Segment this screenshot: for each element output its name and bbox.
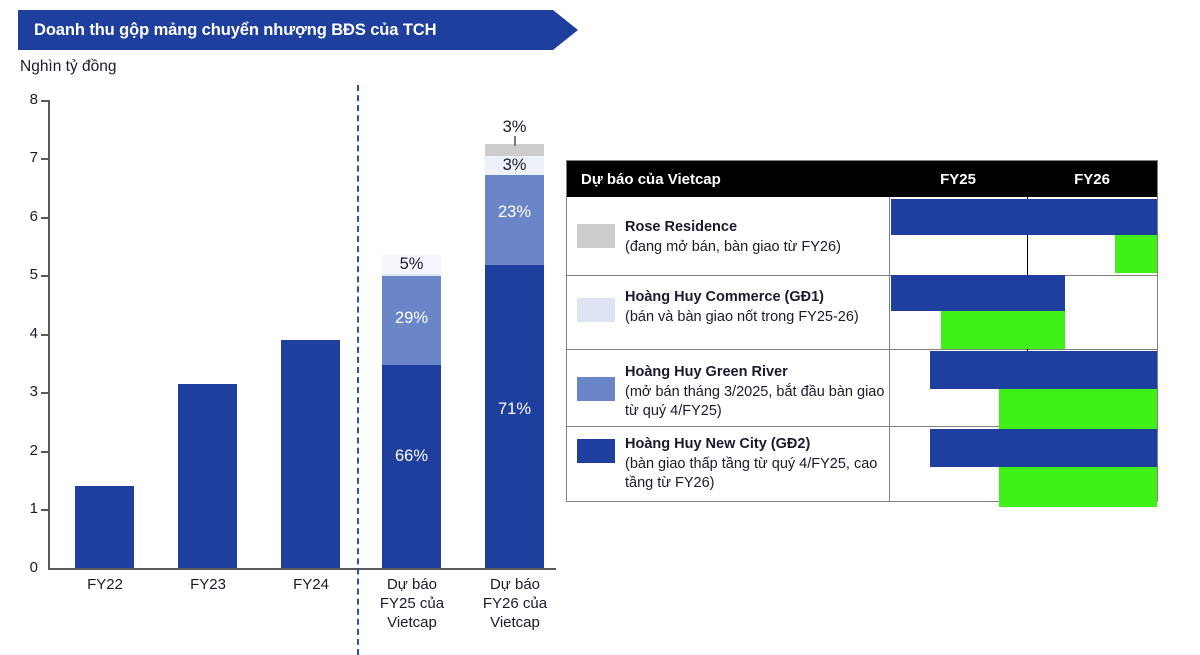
x-label-fy25-line1: Dự báo — [387, 576, 437, 593]
x-label-fy24: FY24 — [270, 575, 352, 594]
forecast-divider-line — [357, 85, 359, 655]
bar-fy24-segment-newcity — [281, 340, 340, 568]
gantt-handover-bar-hoang-huy-new-city — [999, 467, 1157, 507]
bar-fy25-label-commerce: 5% — [382, 255, 441, 274]
gantt-chart-area — [889, 197, 1157, 501]
table-row-text-hoang-huy-green-river: Hoàng Huy Green River (mở bán tháng 3/20… — [625, 363, 889, 422]
project-note-hoang-huy-green-river: (mở bán tháng 3/2025, bắt đầu bàn giao t… — [625, 383, 889, 422]
project-note-rose-residence: (đang mở bán, bàn giao từ FY26) — [625, 238, 889, 258]
table-header-fy26: FY26 — [1027, 161, 1157, 197]
gantt-handover-bar-rose-residence — [1115, 235, 1157, 273]
gantt-handover-bar-hoang-huy-commerce — [941, 311, 1065, 349]
bar-fy25-forecast — [382, 261, 441, 568]
bar-fy23-segment-newcity — [178, 384, 237, 568]
table-header-row: Dự báo của Vietcap FY25 FY26 — [567, 161, 1157, 197]
x-label-fy25-forecast: Dự báo FY25 của Vietcap — [371, 575, 453, 632]
bar-fy25-label-newcity: 66% — [382, 447, 441, 466]
bar-fy25-label-greenriver: 29% — [382, 309, 441, 328]
legend-swatch-hoang-huy-commerce — [577, 298, 615, 322]
table-header-fy25: FY25 — [889, 161, 1027, 197]
y-axis-line — [48, 100, 50, 568]
legend-swatch-rose-residence — [577, 224, 615, 248]
bar-fy23 — [178, 384, 237, 568]
forecast-table: Dự báo của Vietcap FY25 FY26 Rose Reside… — [566, 160, 1158, 502]
y-axis-unit-label: Nghìn tỷ đồng — [20, 58, 117, 76]
bar-fy26-label-newcity: 71% — [485, 400, 544, 419]
project-name-hoang-huy-new-city: Hoàng Huy New City (GĐ2) — [625, 435, 889, 455]
bar-fy22 — [75, 486, 134, 568]
bar-fy26-label-rose: 3% — [485, 118, 544, 137]
bar-fy26-rose-callout-line — [514, 136, 516, 146]
project-note-hoang-huy-new-city: (bàn giao thấp tầng từ quý 4/FY25, cao t… — [625, 455, 889, 494]
y-tick-7: 7 — [12, 149, 38, 166]
x-label-fy22: FY22 — [64, 575, 146, 594]
project-name-rose-residence: Rose Residence — [625, 218, 889, 238]
x-axis-line — [48, 568, 556, 570]
x-label-fy23: FY23 — [167, 575, 249, 594]
table-row-text-rose-residence: Rose Residence (đang mở bán, bàn giao từ… — [625, 218, 889, 257]
table-row-text-hoang-huy-commerce: Hoàng Huy Commerce (GĐ1) (bán và bàn gia… — [625, 288, 889, 327]
y-tick-1: 1 — [12, 500, 38, 517]
y-tick-8: 8 — [12, 91, 38, 108]
x-label-fy26-line3: Vietcap — [490, 614, 540, 631]
y-tick-6: 6 — [12, 208, 38, 225]
legend-swatch-hoang-huy-green-river — [577, 377, 615, 401]
gantt-sales-bar-rose-residence — [891, 199, 1157, 235]
project-name-hoang-huy-commerce: Hoàng Huy Commerce (GĐ1) — [625, 288, 889, 308]
gantt-sales-bar-hoang-huy-green-river — [930, 351, 1157, 389]
y-tick-0: 0 — [12, 559, 38, 576]
x-label-fy26-line1: Dự báo — [490, 576, 540, 593]
bar-fy22-segment-newcity — [75, 486, 134, 568]
chart-area: Nghìn tỷ đồng 8 7 6 5 4 3 2 1 0 5% 29% 6… — [0, 0, 600, 648]
bar-fy26-label-greenriver: 23% — [485, 203, 544, 222]
legend-swatch-hoang-huy-new-city — [577, 439, 615, 463]
table-row-text-hoang-huy-new-city: Hoàng Huy New City (GĐ2) (bàn giao thấp … — [625, 435, 889, 494]
x-label-fy26-forecast: Dự báo FY26 của Vietcap — [474, 575, 556, 632]
bar-fy26-label-commerce: 3% — [485, 156, 544, 175]
bar-fy24 — [281, 340, 340, 568]
x-label-fy25-line2: FY25 của — [380, 595, 444, 612]
gantt-left-border — [889, 197, 890, 501]
project-note-hoang-huy-commerce: (bán và bàn giao nốt trong FY25-26) — [625, 308, 889, 328]
project-name-hoang-huy-green-river: Hoàng Huy Green River — [625, 363, 889, 383]
gantt-sales-bar-hoang-huy-commerce — [891, 275, 1065, 311]
page-title: Doanh thu gộp mảng chuyển nhượng BĐS của… — [34, 10, 436, 50]
x-label-fy25-line3: Vietcap — [387, 614, 437, 631]
gantt-sales-bar-hoang-huy-new-city — [930, 429, 1157, 467]
y-tick-3: 3 — [12, 383, 38, 400]
table-header-title: Dự báo của Vietcap — [581, 161, 721, 197]
x-label-fy26-line2: FY26 của — [483, 595, 547, 612]
bar-fy25-segment-newcity — [382, 365, 441, 568]
y-tick-2: 2 — [12, 442, 38, 459]
y-tick-5: 5 — [12, 266, 38, 283]
gantt-handover-bar-hoang-huy-green-river — [999, 389, 1157, 429]
y-tick-4: 4 — [12, 325, 38, 342]
